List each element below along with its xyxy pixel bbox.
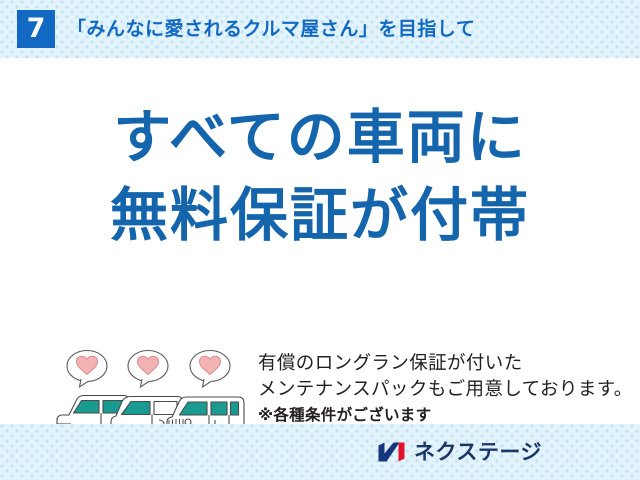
promo-banner: 7 「みんなに愛されるクルマ屋さん」を目指して すべての車両に 無料保証が付帯 bbox=[0, 0, 640, 480]
headline-line-2: 無料保証が付帯 bbox=[0, 176, 640, 254]
brand-lockup: ネクステージ bbox=[377, 440, 542, 464]
headline: すべての車両に 無料保証が付帯 bbox=[0, 98, 640, 254]
supporting-copy: 有償のロングラン保証が付いた メンテナンスパックもご用意しております。 ※各種条… bbox=[258, 350, 633, 428]
section-number-badge: 7 bbox=[17, 10, 55, 48]
banner-footer: ネクステージ bbox=[0, 424, 640, 480]
lower-section: 有償のロングラン保証が付いた メンテナンスパックもご用意しております。 ※各種条… bbox=[0, 290, 640, 410]
headline-line-1: すべての車両に bbox=[0, 98, 640, 176]
banner-body: すべての車両に 無料保証が付帯 bbox=[0, 58, 640, 424]
copy-line-2: メンテナンスパックもご用意しております。 bbox=[258, 376, 633, 402]
brand-name: ネクステージ bbox=[414, 442, 542, 463]
copy-line-1: 有償のロングラン保証が付いた bbox=[258, 350, 633, 376]
heart-icon-1 bbox=[77, 356, 98, 374]
banner-header: 7 「みんなに愛されるクルマ屋さん」を目指して bbox=[0, 0, 640, 58]
heart-icon-2 bbox=[138, 356, 159, 374]
heart-icon-3 bbox=[200, 356, 221, 374]
header-title: 「みんなに愛されるクルマ屋さん」を目指して bbox=[67, 20, 475, 39]
nextage-n-logo-icon bbox=[377, 440, 407, 464]
